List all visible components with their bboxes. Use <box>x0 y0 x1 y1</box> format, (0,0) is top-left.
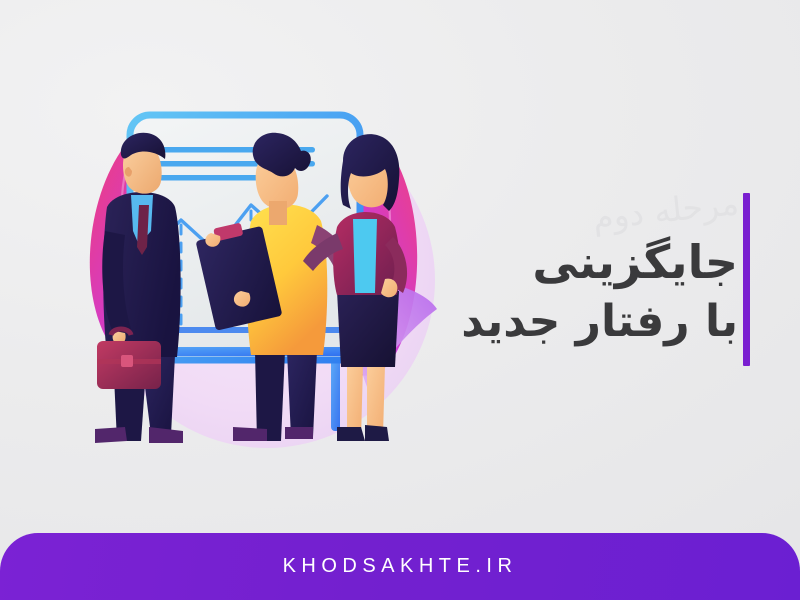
leg-front <box>367 365 385 435</box>
top-cyan <box>353 219 377 293</box>
shoe-front <box>149 427 183 443</box>
briefcase-lock <box>121 355 133 367</box>
board-line-3 <box>155 175 259 181</box>
site-banner: KHODSAKHTE.IR <box>0 533 800 600</box>
easel-leg-right <box>331 355 340 431</box>
leg-front <box>287 351 317 437</box>
heel-back <box>337 427 365 441</box>
headline-line-1: جایگزینی <box>438 232 738 293</box>
watermark-text: مرحله دوم <box>591 186 740 234</box>
illustration <box>55 55 465 475</box>
shoe-back <box>95 427 127 443</box>
page-title: جایگزینی با رفتار جدید <box>438 232 738 351</box>
poster-canvas: مرحله دوم جایگزینی با رفتار جدید KHODSAK… <box>0 0 800 600</box>
site-url-label: KHODSAKHTE.IR <box>283 555 518 578</box>
leg-back <box>255 351 285 441</box>
neck <box>269 201 287 225</box>
headline-line-2: با رفتار جدید <box>438 293 738 351</box>
headline-accent-bar <box>743 193 750 366</box>
skirt <box>337 291 399 367</box>
shoe-right <box>285 427 313 439</box>
heel-front <box>365 425 389 441</box>
shoe-left <box>233 427 267 441</box>
